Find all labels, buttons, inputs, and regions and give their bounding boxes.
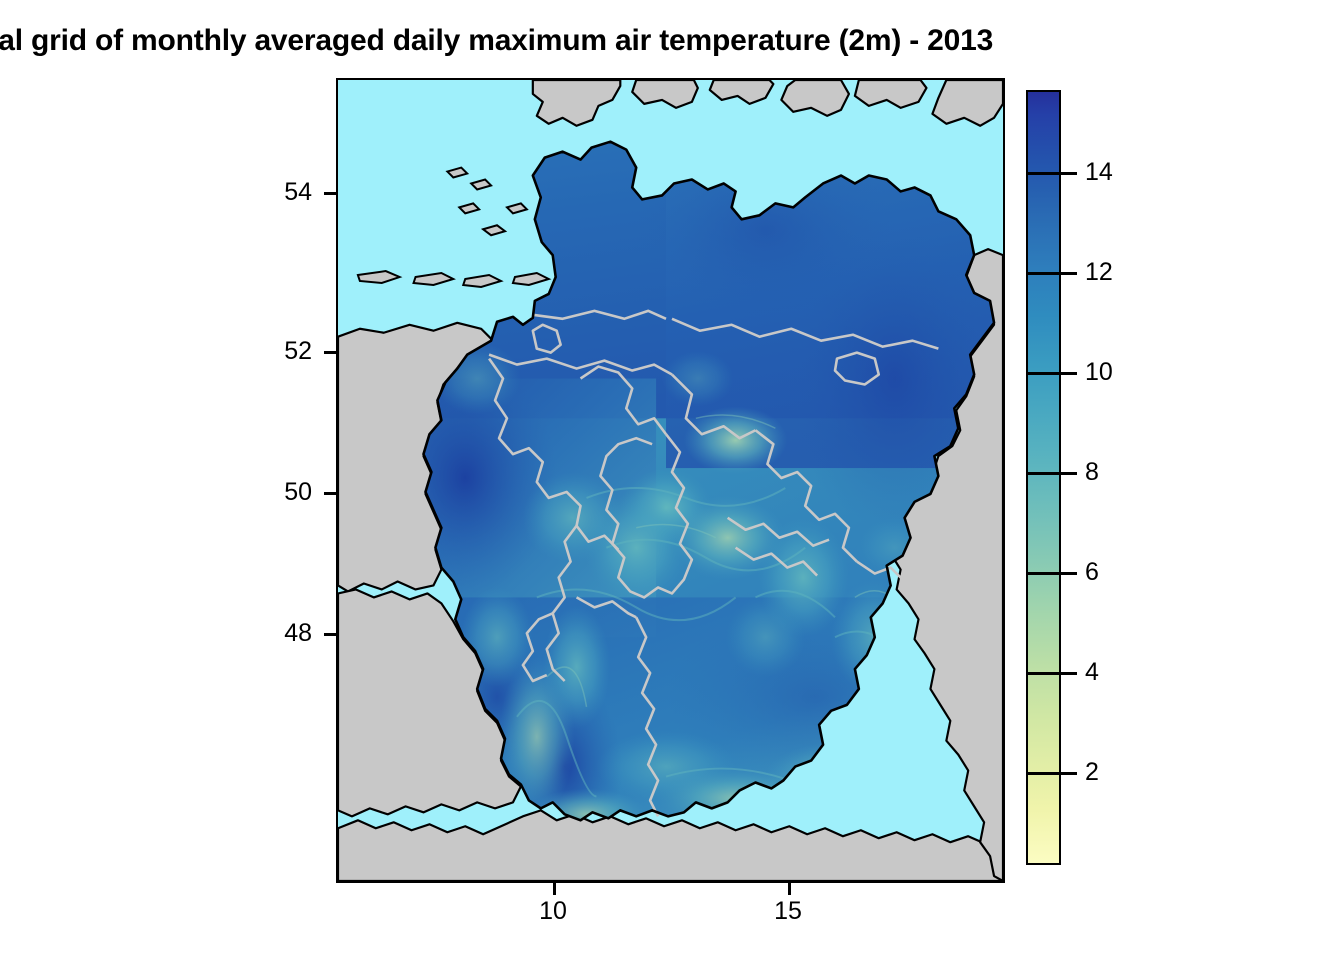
colorbar-tick-2: [1061, 772, 1077, 775]
colorbar-tick-10: [1061, 372, 1077, 375]
y-tick-54: [324, 192, 336, 195]
colorbar-tick-14: [1061, 172, 1077, 175]
map-plot-area: [336, 78, 1005, 883]
page-title: nual grid of monthly averaged daily maxi…: [0, 24, 1344, 58]
colorbar-tick-8: [1061, 472, 1077, 475]
y-tick-label-48: 48: [244, 619, 312, 648]
colorbar-tick-12: [1061, 272, 1077, 275]
y-tick-50: [324, 492, 336, 495]
y-tick-52: [324, 351, 336, 354]
x-tick-10: [553, 883, 556, 895]
y-tick-label-52: 52: [244, 337, 312, 366]
x-tick-label-10: 10: [513, 897, 593, 926]
colorbar-separator-10: [1026, 372, 1061, 375]
colorbar-separator-14: [1026, 172, 1061, 175]
colorbar-separator-12: [1026, 272, 1061, 275]
colorbar-label-6: 6: [1085, 558, 1099, 587]
temperature-colorbar: [1026, 90, 1061, 865]
y-tick-label-54: 54: [244, 178, 312, 207]
colorbar-separator-4: [1026, 672, 1061, 675]
colorbar-label-10: 10: [1085, 358, 1113, 387]
colorbar-separator-8: [1026, 472, 1061, 475]
colorbar-tick-4: [1061, 672, 1077, 675]
colorbar-separator-6: [1026, 572, 1061, 575]
colorbar-label-12: 12: [1085, 258, 1113, 287]
germany-temperature-map: [338, 80, 1003, 881]
colorbar-label-14: 14: [1085, 158, 1113, 187]
y-tick-label-50: 50: [244, 478, 312, 507]
colorbar-label-2: 2: [1085, 758, 1099, 787]
x-tick-15: [788, 883, 791, 895]
colorbar-separator-2: [1026, 772, 1061, 775]
x-tick-label-15: 15: [748, 897, 828, 926]
colorbar-label-4: 4: [1085, 658, 1099, 687]
colorbar-tick-6: [1061, 572, 1077, 575]
y-tick-48: [324, 633, 336, 636]
colorbar-label-8: 8: [1085, 458, 1099, 487]
